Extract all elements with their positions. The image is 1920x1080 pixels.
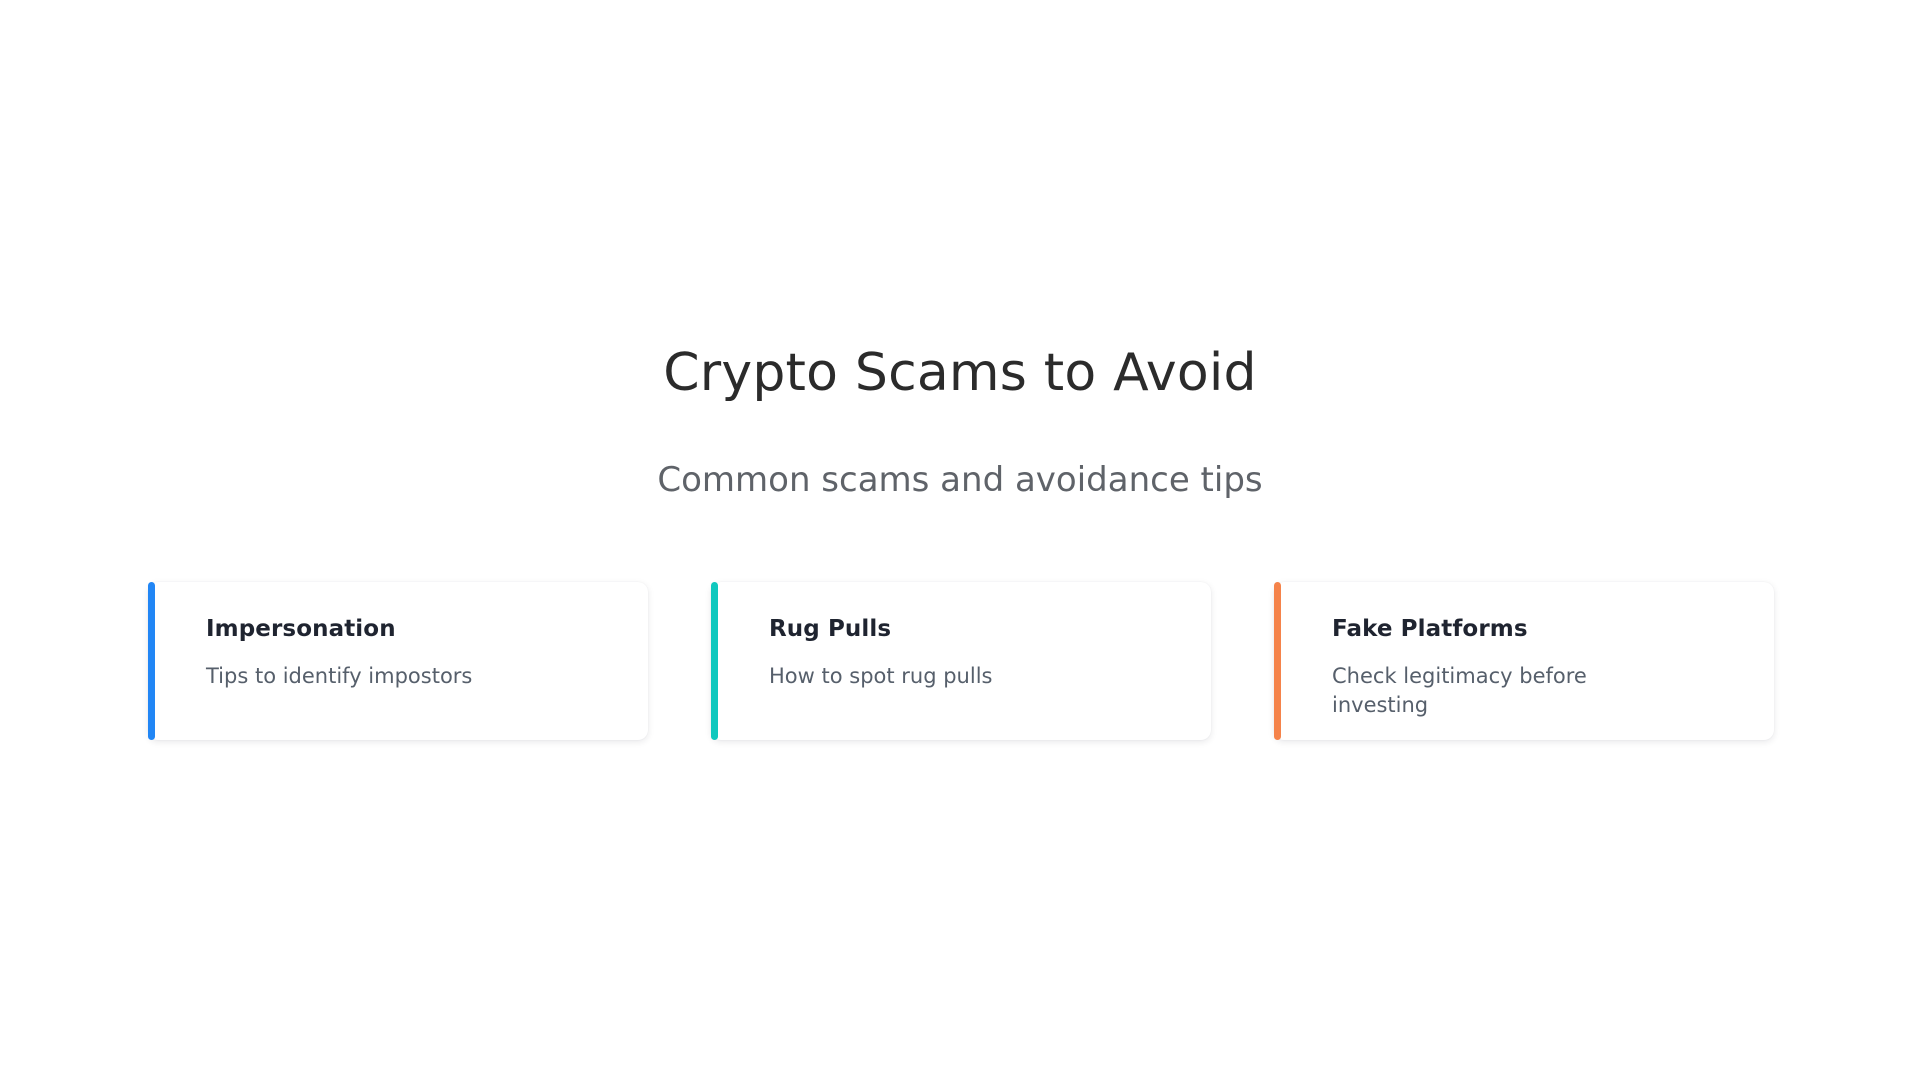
accent-bar-icon bbox=[1274, 582, 1281, 740]
card-grid: Impersonation Tips to identify impostors… bbox=[148, 582, 1774, 740]
card-body: Tips to identify impostors bbox=[206, 662, 506, 691]
accent-bar-icon bbox=[148, 582, 155, 740]
page-subtitle: Common scams and avoidance tips bbox=[0, 460, 1920, 501]
card-title: Fake Platforms bbox=[1332, 616, 1740, 644]
card-title: Rug Pulls bbox=[769, 616, 1177, 644]
card-impersonation[interactable]: Impersonation Tips to identify impostors bbox=[148, 582, 648, 740]
card-fake-platforms[interactable]: Fake Platforms Check legitimacy before i… bbox=[1274, 582, 1774, 740]
accent-bar-icon bbox=[711, 582, 718, 740]
card-rug-pulls[interactable]: Rug Pulls How to spot rug pulls bbox=[711, 582, 1211, 740]
card-title: Impersonation bbox=[206, 616, 614, 644]
card-body: How to spot rug pulls bbox=[769, 662, 1069, 691]
slide-canvas: Crypto Scams to Avoid Common scams and a… bbox=[0, 0, 1920, 1080]
card-body: Check legitimacy before investing bbox=[1332, 662, 1632, 720]
page-title: Crypto Scams to Avoid bbox=[0, 344, 1920, 404]
